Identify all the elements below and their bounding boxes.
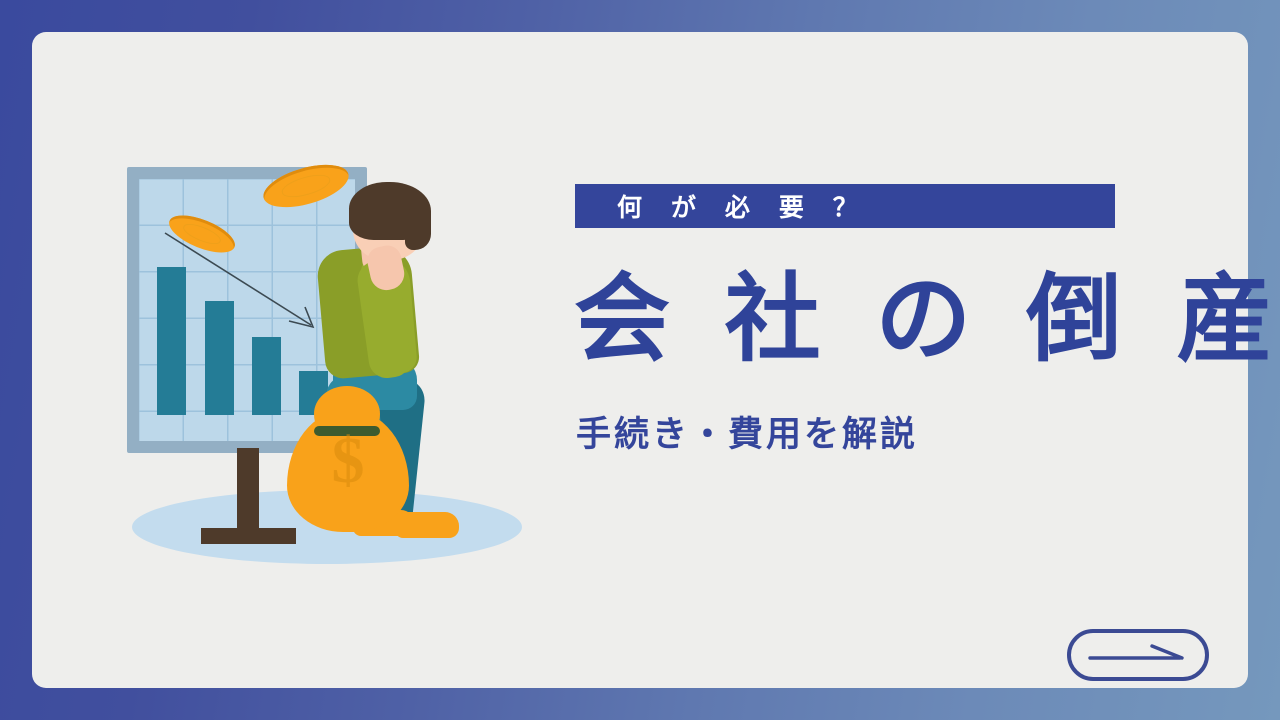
hair-side [405,208,431,250]
money-bag-symbol: $ [287,428,409,494]
page-title: 会 社 の 倒 産 [574,266,1234,374]
money-bag-icon: $ [287,380,409,532]
eyebrow-badge-label: 何 が 必 要 ？ [575,188,869,224]
next-arrow-button[interactable] [1067,629,1209,681]
eyebrow-badge: 何 が 必 要 ？ [575,184,1115,228]
arrow-right-icon [1086,641,1190,669]
easel-foot [201,528,296,544]
page-subtitle: 手続き・費用を解説 [576,406,1236,457]
content-card: $ 何 が 必 要 ？ 会 社 の 倒 産 手続き・費用を解説 [32,32,1248,688]
slide-canvas: $ 何 が 必 要 ？ 会 社 の 倒 産 手続き・費用を解説 [0,0,1280,720]
illustration-bankruptcy: $ [92,152,552,592]
